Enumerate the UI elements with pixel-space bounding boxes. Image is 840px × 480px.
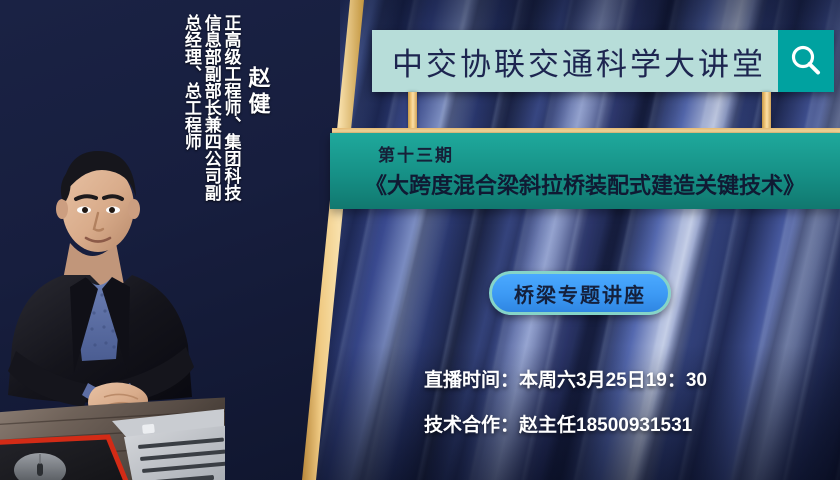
broadcast-time: 直播时间：本周六3月25日19：30 bbox=[424, 365, 707, 392]
speaker-name: 赵健 bbox=[242, 66, 274, 118]
speaker-title-column-2: 信息部副部长兼四公司副 bbox=[202, 14, 220, 201]
search-button[interactable] bbox=[778, 30, 834, 92]
lecture-category-button[interactable]: 桥梁专题讲座 bbox=[489, 271, 671, 315]
lecture-topic: 《大跨度混合梁斜拉桥装配式建造关键技术》 bbox=[330, 168, 840, 200]
subtitle-band: 第十三期 《大跨度混合梁斜拉桥装配式建造关键技术》 bbox=[330, 133, 840, 209]
header-banner-main: 中交协联交通科学大讲堂 bbox=[372, 30, 778, 92]
speaker-credentials: 赵健 正高级工程师、集团科技 信息部副部长兼四公司副 总经理、总工程师 bbox=[182, 14, 288, 201]
technical-contact: 技术合作：赵主任18500931531 bbox=[424, 410, 692, 437]
issue-number: 第十三期 bbox=[378, 141, 840, 166]
search-icon bbox=[788, 43, 824, 79]
page-title: 中交协联交通科学大讲堂 bbox=[392, 39, 766, 84]
speaker-title-column-1: 正高级工程师、集团科技 bbox=[222, 14, 240, 201]
header-banner: 中交协联交通科学大讲堂 bbox=[372, 30, 834, 92]
lecture-category-label: 桥梁专题讲座 bbox=[514, 279, 646, 308]
gold-post-left bbox=[408, 92, 417, 132]
speaker-title-column-3: 总经理、总工程师 bbox=[182, 14, 200, 150]
live-stream-poster: 中交协联交通科学大讲堂 第十三期 《大跨度混合梁斜拉桥装配式建造关键技术》 赵健… bbox=[0, 0, 840, 480]
gold-post-right bbox=[762, 92, 771, 132]
